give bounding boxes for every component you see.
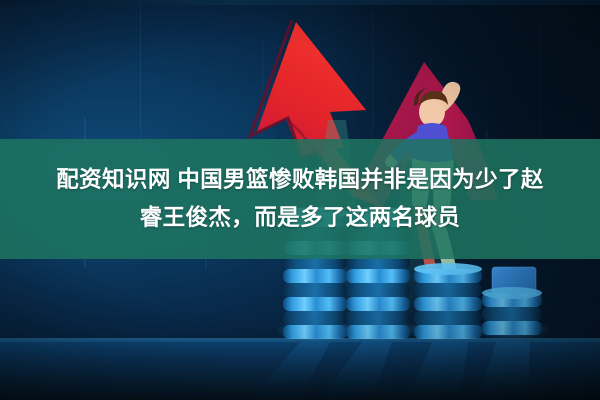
headline-line-2: 睿王俊杰，而是多了这两名球员 — [20, 199, 580, 237]
headline-text: 配资知识网 中国男篮惨败韩国并非是因为少了赵 睿王俊杰，而是多了这两名球员 — [20, 161, 580, 237]
thumbnail-image: 配资知识网 中国男篮惨败韩国并非是因为少了赵 睿王俊杰，而是多了这两名球员 — [0, 0, 600, 400]
headline-band: 配资知识网 中国男篮惨败韩国并非是因为少了赵 睿王俊杰，而是多了这两名球员 — [0, 139, 600, 259]
headline-line-1: 配资知识网 中国男篮惨败韩国并非是因为少了赵 — [20, 161, 580, 199]
top-edge-strip — [0, 0, 600, 5]
